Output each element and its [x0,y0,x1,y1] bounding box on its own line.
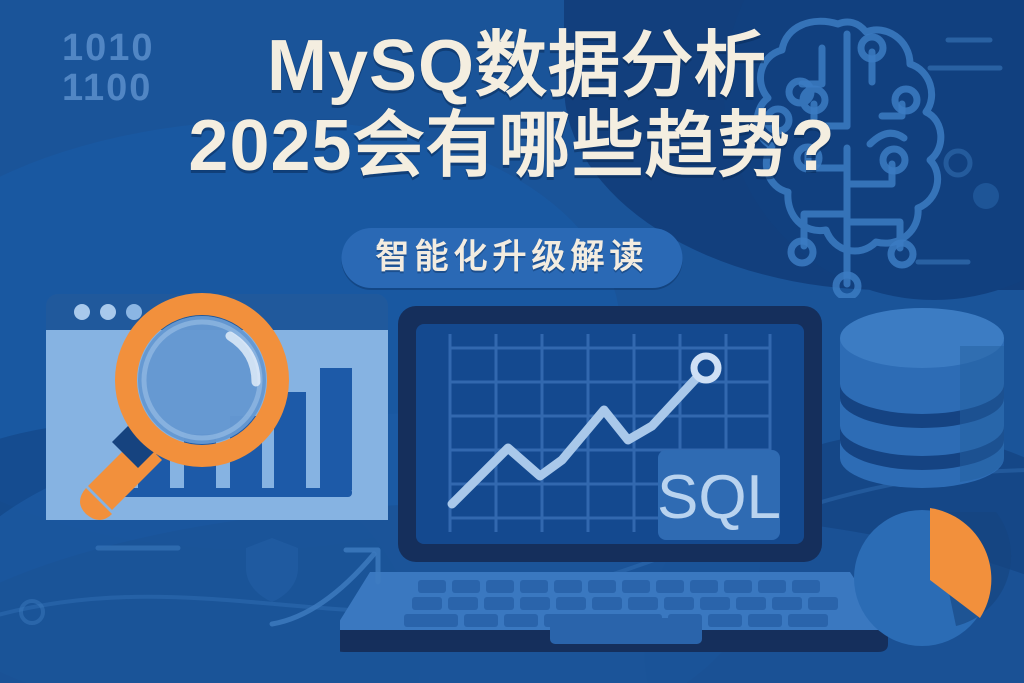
trend-line-endpoint [694,356,718,380]
laptop-trackpad [550,618,702,644]
subtitle-badge-label: 智能化升级解读 [376,238,649,276]
browser-traffic-dots [74,304,142,320]
pie-chart [846,486,1016,656]
subtitle-badge: 智能化升级解读 [342,228,683,288]
laptop-icon: SQL [340,300,900,670]
bar-chart-axis [104,488,352,497]
growth-arrow-icon [268,540,398,630]
binary-line-1: 1010 [62,28,155,68]
brain-circuit-icon [742,8,952,298]
binary-decoration: 1010 1100 [62,28,155,108]
poster-canvas: 1010 1100 [0,0,1024,683]
sql-label-text: SQL [657,463,781,532]
binary-line-2: 1100 [62,68,155,108]
database-cylinder-icon [832,300,1012,500]
